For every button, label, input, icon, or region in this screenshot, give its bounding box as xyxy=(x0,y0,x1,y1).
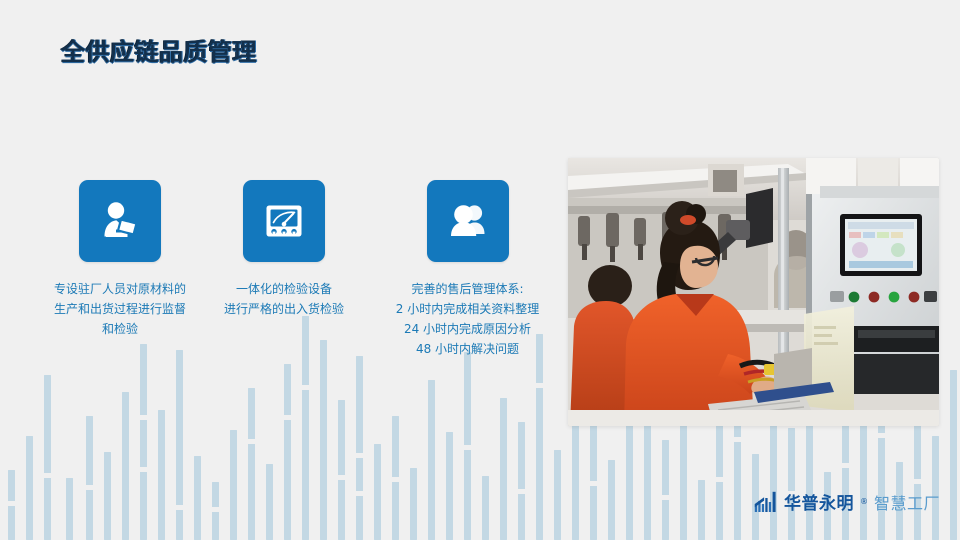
decorative-bar xyxy=(590,420,597,540)
decorative-bar-gap xyxy=(518,489,525,494)
decorative-bar xyxy=(266,464,273,540)
decorative-bar xyxy=(932,436,939,540)
decorative-bar xyxy=(482,476,489,540)
decorative-bar xyxy=(86,416,93,540)
decorative-bar-gap xyxy=(86,485,93,490)
decorative-bar-gap xyxy=(44,473,51,478)
decorative-bar xyxy=(518,422,525,540)
decorative-bar xyxy=(374,444,381,540)
decorative-bar-gap xyxy=(284,415,291,420)
decorative-bar xyxy=(446,432,453,540)
decorative-bar xyxy=(122,392,129,540)
factory-photo xyxy=(568,158,939,426)
decorative-bar xyxy=(66,478,73,540)
decorative-bar xyxy=(158,410,165,540)
decorative-bar-gap xyxy=(140,415,147,420)
decorative-bar-gap xyxy=(140,467,147,472)
decorative-bar-gap xyxy=(464,445,471,450)
person-with-clipboard-icon xyxy=(79,180,161,262)
decorative-bar-gap xyxy=(914,479,921,484)
brand-logo: 华普永明 ® 智慧工厂 xyxy=(754,489,940,514)
decorative-bar xyxy=(26,436,33,540)
decorative-bar xyxy=(554,450,561,540)
decorative-bar-gap xyxy=(8,501,15,506)
logo-brand: 华普永明 xyxy=(784,489,854,514)
two-users-icon xyxy=(427,180,509,262)
decorative-bar xyxy=(716,408,723,540)
logo-suffix: 智慧工厂 xyxy=(874,490,940,514)
decorative-bar xyxy=(392,416,399,540)
page-title: 全供应链品质管理 xyxy=(61,32,257,67)
decorative-bar-gap xyxy=(716,477,723,482)
decorative-bar xyxy=(8,470,15,540)
decorative-bar-gap xyxy=(842,463,849,468)
feature-caption: 专设驻厂人员对原材料的 生产和出货过程进行监督 和检验 xyxy=(22,279,218,339)
factory-bars-logo-icon xyxy=(754,491,778,513)
decorative-bar-gap xyxy=(590,481,597,486)
decorative-bar xyxy=(698,480,705,540)
decorative-bar-gap xyxy=(662,495,669,500)
feature-caption: 一体化的检验设备 进行严格的出入货检验 xyxy=(208,279,360,319)
decorative-bar xyxy=(194,456,201,540)
feature-caption: 完善的售后管理体系: 2 小时内完成相关资料整理 24 小时内完成原因分析 48… xyxy=(370,279,565,359)
gauge-meter-icon xyxy=(243,180,325,262)
decorative-bar-gap xyxy=(878,433,885,438)
feature-item-inspection: 专设驻厂人员对原材料的 生产和出货过程进行监督 和检验 xyxy=(22,180,218,339)
decorative-bar-gap xyxy=(392,477,399,482)
decorative-bar xyxy=(248,388,255,540)
decorative-bar-gap xyxy=(734,437,741,442)
decorative-bar-gap xyxy=(212,507,219,512)
decorative-bar xyxy=(788,428,795,540)
decorative-bar-gap xyxy=(356,453,363,458)
feature-item-after-sales: 完善的售后管理体系: 2 小时内完成相关资料整理 24 小时内完成原因分析 48… xyxy=(370,180,565,359)
logo-trademark: ® xyxy=(860,497,868,506)
decorative-bar xyxy=(662,440,669,540)
decorative-bar xyxy=(500,398,507,540)
decorative-bar xyxy=(608,460,615,540)
decorative-bar xyxy=(860,414,867,540)
feature-item-testing-equipment: 一体化的检验设备 进行严格的出入货检验 xyxy=(208,180,360,319)
decorative-bar xyxy=(950,370,957,540)
decorative-bar xyxy=(230,430,237,540)
decorative-bar xyxy=(338,400,345,540)
decorative-bar-gap xyxy=(176,505,183,510)
decorative-bar xyxy=(410,468,417,540)
decorative-bar-gap xyxy=(248,439,255,444)
feature-list: 专设驻厂人员对原材料的 生产和出货过程进行监督 和检验 一体 xyxy=(0,180,565,410)
decorative-bar-gap xyxy=(356,491,363,496)
decorative-bar-gap xyxy=(338,475,345,480)
decorative-bar xyxy=(104,452,111,540)
decorative-bar xyxy=(212,482,219,540)
slide-canvas: 全供应链品质管理 专设驻厂人员对原材料的 生产和出货过程进行监督 和检验 xyxy=(0,0,960,540)
